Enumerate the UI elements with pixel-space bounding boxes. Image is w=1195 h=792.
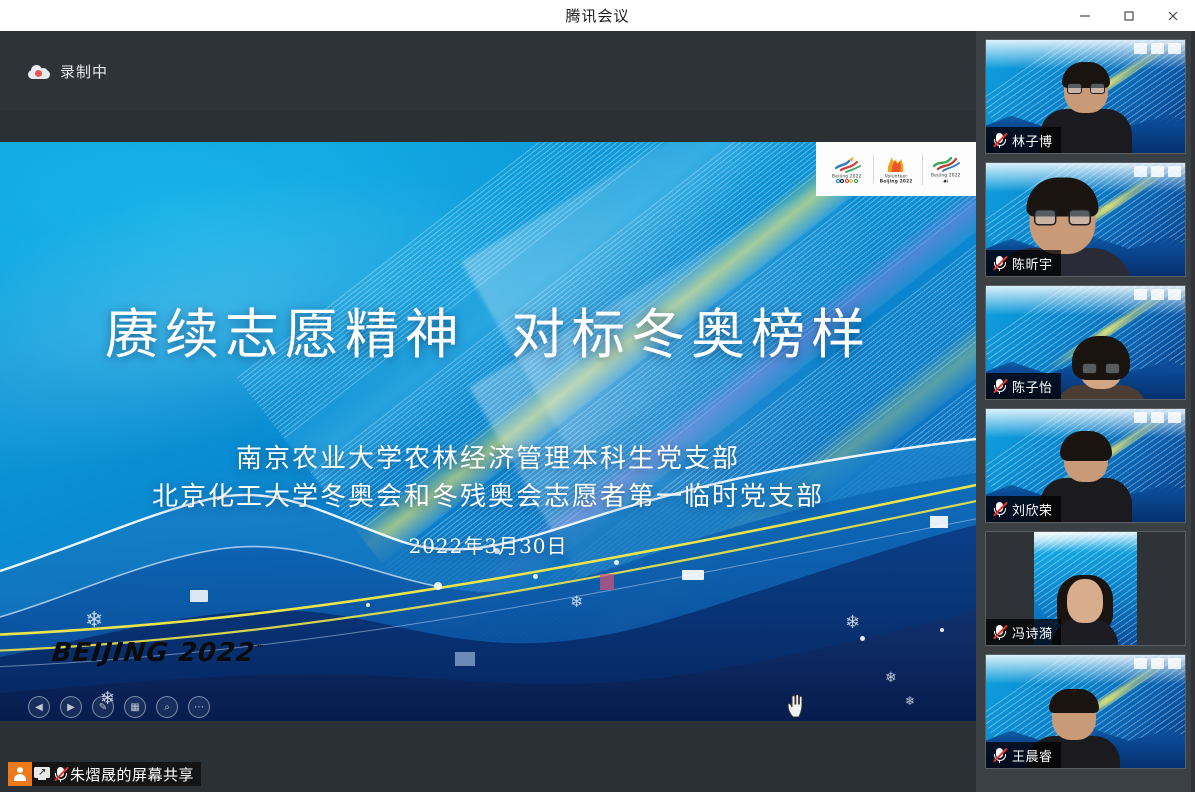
slide-subtitle-line2: 北京化工大学冬奥会和冬残奥会志愿者第一临时党支部 — [0, 476, 976, 513]
participant-name: 王晨睿 — [1012, 746, 1053, 765]
meeting-window-body: 录制中 — [0, 31, 1195, 792]
snowflake-icon-5: ❄ — [885, 670, 897, 686]
virtual-bg-logos-icon — [1134, 43, 1181, 54]
slide-main-title: 赓续志愿精神 对标冬奥榜样 — [0, 290, 976, 369]
participant-avatar — [1055, 341, 1147, 399]
participant-name: 刘欣荣 — [1012, 500, 1053, 519]
virtual-bg-logos-icon — [1134, 289, 1181, 300]
slide-subtitle-line1: 南京农业大学农林经济管理本科生党支部 — [0, 438, 976, 475]
all-slides-button[interactable]: ▦ — [124, 696, 146, 718]
participant-namebar: 陈子怡 — [986, 373, 1061, 399]
olympic-rings-icon — [836, 179, 858, 183]
participant-tile[interactable]: 林子博 — [985, 39, 1186, 154]
screen-share-icon: ↗ — [32, 762, 52, 786]
paralympic-emblem: Beijing 2022 ☙ — [922, 154, 968, 185]
participant-namebar: 王晨睿 — [986, 742, 1061, 768]
mic-muted-icon — [992, 624, 1007, 641]
maximize-icon — [1122, 9, 1136, 23]
screen-share-label: 朱熠晟的屏幕共享 — [68, 764, 201, 785]
paralympic-figure-icon — [931, 154, 961, 172]
maximize-button[interactable] — [1107, 0, 1151, 31]
great-wall-motif-1 — [190, 590, 208, 602]
particle-dot-7 — [940, 628, 944, 632]
participant-tile[interactable]: 王晨睿 — [985, 654, 1186, 769]
agitos-icon: ☙ — [942, 177, 949, 186]
minimize-icon — [1078, 9, 1092, 23]
paralympic-emblem-mark — [931, 154, 961, 172]
mic-muted-icon — [992, 378, 1007, 395]
previous-slide-button[interactable]: ◀ — [28, 696, 50, 718]
virtual-bg-logos-icon — [1134, 166, 1181, 177]
particle-dot-5 — [366, 603, 370, 607]
slide-date: 2022年3月30日 — [0, 530, 976, 559]
participant-panel[interactable]: 林子博 陈昕宇 — [976, 31, 1195, 792]
participant-namebar: 陈昕宇 — [986, 250, 1061, 276]
participant-avatar — [1052, 579, 1118, 645]
particle-dot-3 — [533, 574, 538, 579]
pen-tool-button[interactable]: ✎ — [92, 696, 114, 718]
participant-name: 冯诗漪 — [1012, 623, 1053, 642]
participant-name: 林子博 — [1012, 131, 1053, 150]
volunteer-emblem-mark — [883, 155, 909, 173]
virtual-bg-logos-icon — [1134, 658, 1181, 669]
participant-namebar: 林子博 — [986, 127, 1061, 153]
virtual-bg-logos-icon — [1134, 412, 1181, 423]
close-button[interactable] — [1151, 0, 1195, 31]
person-icon — [8, 762, 32, 786]
participant-panel-scrollbar[interactable] — [1191, 31, 1195, 792]
more-options-button[interactable]: ⋯ — [188, 696, 210, 718]
particle-dot-1 — [434, 582, 442, 590]
beijing-2022-wordmark: BEIJING 2022™ — [50, 638, 266, 668]
participant-namebar: 刘欣荣 — [986, 496, 1061, 522]
snowflake-icon-1: ❄ — [85, 608, 103, 633]
mic-muted-icon — [992, 747, 1007, 764]
zoom-tool-button[interactable]: ⌕ — [156, 696, 178, 718]
particle-dot-6 — [860, 636, 865, 641]
participant-tile[interactable]: 刘欣荣 — [985, 408, 1186, 523]
participant-name: 陈昕宇 — [1012, 254, 1053, 273]
snowflake-icon-4: ❄ — [845, 612, 860, 633]
great-wall-motif-4 — [682, 570, 704, 580]
slide-artwork: ❄ ❄ ❄ ❄ ❄ ❄ — [0, 142, 976, 721]
mic-muted-icon — [992, 255, 1007, 272]
beijing-2022-text: BEIJING 2022 — [50, 638, 256, 668]
window-titlebar: 腾讯会议 — [0, 0, 1195, 31]
olympic-emblem-mark — [832, 155, 862, 173]
presentation-toolbar[interactable]: ◀ ▶ ✎ ▦ ⌕ ⋯ — [28, 696, 210, 718]
cloud-recording-icon — [28, 65, 50, 79]
mic-muted-icon — [992, 501, 1007, 518]
olympic-logo-banner: Beijing 2022 Volunte — [816, 142, 976, 196]
shared-screen-area[interactable]: 录制中 — [0, 31, 976, 792]
olympic-emblem-caption: Beijing 2022 — [832, 174, 862, 179]
great-wall-motif-2 — [600, 574, 614, 590]
participant-namebar: 冯诗漪 — [986, 619, 1061, 645]
participant-tile[interactable]: 陈昕宇 — [985, 162, 1186, 277]
recording-label: 录制中 — [60, 61, 108, 82]
great-wall-motif-5 — [930, 516, 948, 528]
screen-share-badge: ↗ 朱熠晟的屏幕共享 — [8, 762, 201, 786]
window-title: 腾讯会议 — [565, 5, 629, 26]
olympic-figure-icon — [832, 155, 862, 173]
trademark-symbol: ™ — [255, 644, 266, 654]
next-slide-button[interactable]: ▶ — [60, 696, 82, 718]
participant-tile[interactable]: 陈子怡 — [985, 285, 1186, 400]
mic-muted-icon — [53, 766, 68, 783]
olympic-emblem: Beijing 2022 — [824, 155, 870, 183]
participant-name: 陈子怡 — [1012, 377, 1053, 396]
recording-indicator: 录制中 — [28, 61, 108, 82]
close-icon — [1166, 9, 1180, 23]
participant-tile[interactable]: 冯诗漪 — [985, 531, 1186, 646]
volunteer-emblem: Volunteer Beijing 2022 — [873, 155, 919, 183]
hand-cursor-icon — [786, 693, 806, 719]
presentation-slide[interactable]: ❄ ❄ ❄ ❄ ❄ ❄ — [0, 142, 976, 721]
snowflake-icon-6: ❄ — [905, 694, 915, 708]
recording-bar: 录制中 — [0, 31, 976, 111]
window-controls — [1063, 0, 1195, 31]
snowflake-icon-3: ❄ — [570, 592, 583, 611]
great-wall-motif-3 — [455, 652, 475, 666]
minimize-button[interactable] — [1063, 0, 1107, 31]
mic-muted-icon — [992, 132, 1007, 149]
volunteer-emblem-caption: Beijing 2022 — [880, 179, 913, 184]
particle-dot-4 — [614, 560, 619, 565]
volunteer-flame-icon — [883, 155, 909, 173]
